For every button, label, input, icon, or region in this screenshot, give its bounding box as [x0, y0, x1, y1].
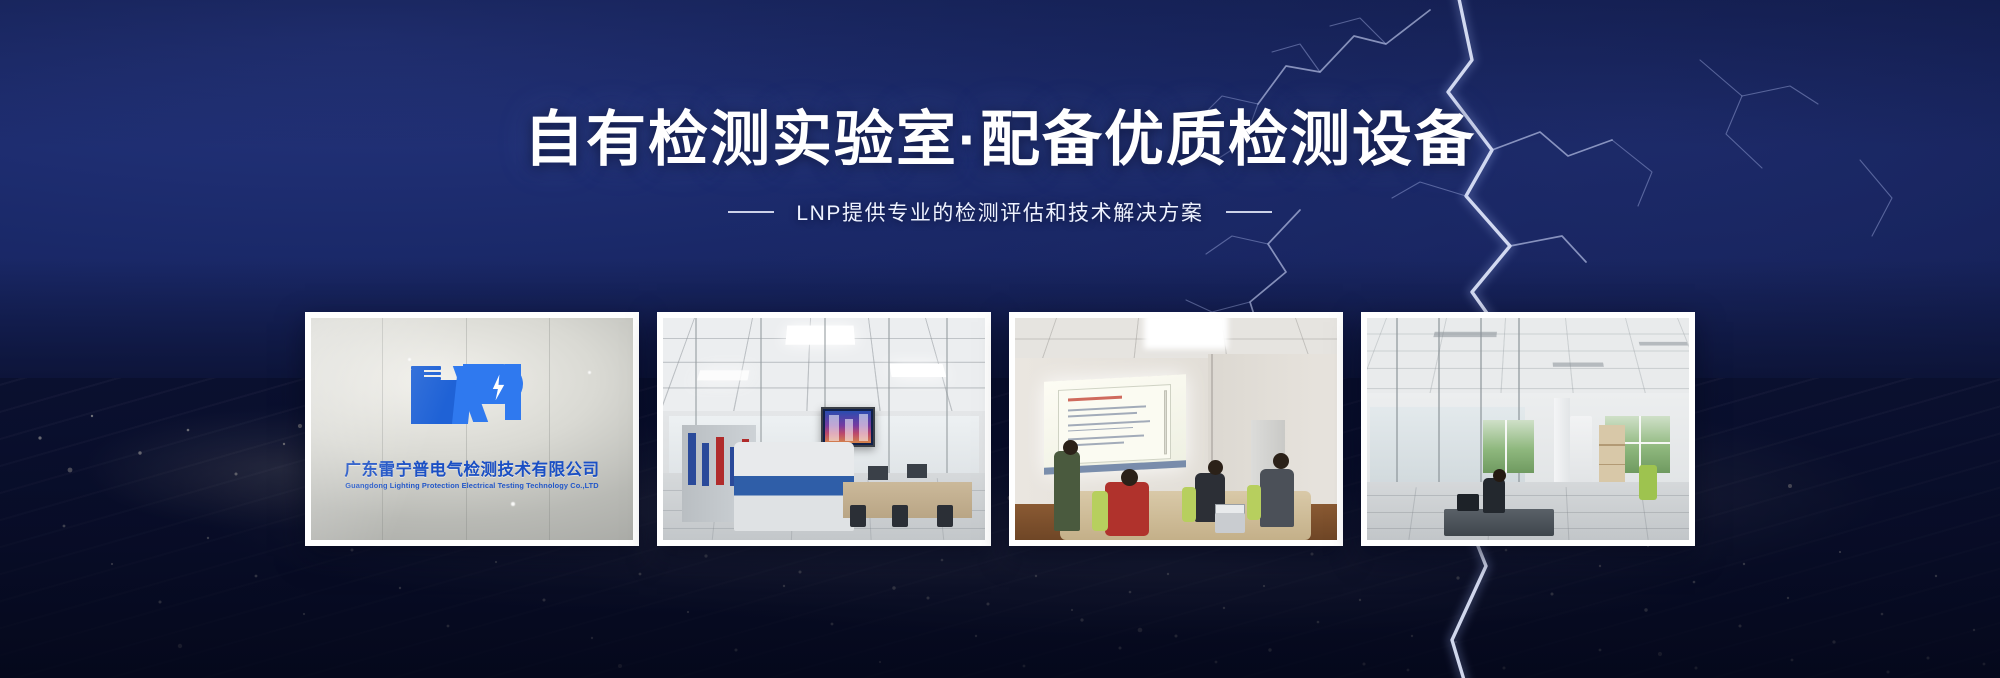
hero-banner: 自有检测实验室·配备优质检测设备 LNP提供专业的检测评估和技术解决方案: [0, 0, 2000, 678]
subtitle-row: LNP提供专业的检测评估和技术解决方案: [0, 197, 2000, 227]
office-chair: [1639, 465, 1657, 501]
photo-training-meeting: [1015, 318, 1337, 540]
control-console: [734, 442, 854, 531]
person-at-desk: [1483, 478, 1505, 514]
page-subtitle: LNP提供专业的检测评估和技术解决方案: [796, 197, 1203, 227]
window-left: [1483, 420, 1535, 473]
gallery-card-office[interactable]: [1361, 312, 1695, 546]
photo-office: [1367, 318, 1689, 540]
page-title: 自有检测实验室·配备优质检测设备: [0, 108, 2000, 171]
rule-left-icon: [728, 211, 774, 213]
wall-monitor: [821, 407, 875, 447]
desktop-monitor: [1457, 494, 1479, 511]
photo-gallery: 广东雷宁普电气检测技术有限公司 Guangdong Lighting Prote…: [0, 312, 2000, 546]
photo-lab-equipment: [663, 318, 985, 540]
person-seated-right: [1260, 469, 1294, 527]
hero-copy: 自有检测实验室·配备优质检测设备 LNP提供专业的检测评估和技术解决方案: [0, 108, 2000, 227]
person-seated-red: [1105, 482, 1149, 535]
gallery-card-lab-equipment[interactable]: [657, 312, 991, 546]
photo-logo-wall: 广东雷宁普电气检测技术有限公司 Guangdong Lighting Prote…: [311, 318, 633, 540]
wall-glare: [311, 318, 523, 540]
gallery-card-logo-wall[interactable]: 广东雷宁普电气检测技术有限公司 Guangdong Lighting Prote…: [305, 312, 639, 546]
gallery-card-training-meeting[interactable]: [1009, 312, 1343, 546]
rule-right-icon: [1226, 211, 1272, 213]
person-presenter: [1054, 451, 1080, 531]
